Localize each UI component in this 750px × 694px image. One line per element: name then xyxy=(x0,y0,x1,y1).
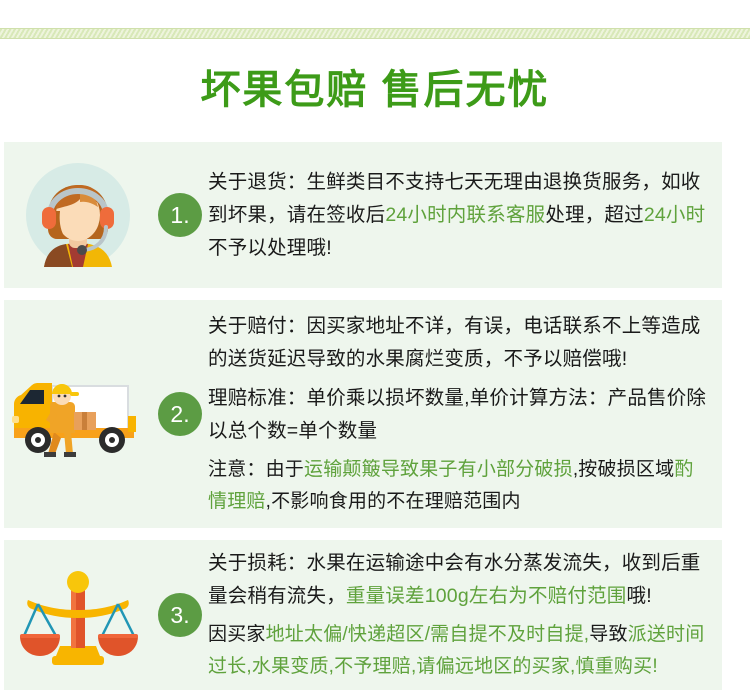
icon-cell-2 xyxy=(4,366,152,462)
run-text-highlight: 重量误差100g左右为不赔付范围 xyxy=(346,585,627,607)
run-text: 不予以处理哦! xyxy=(208,237,332,259)
headset-operator-icon xyxy=(20,157,136,273)
badge-cell-2: 2. xyxy=(152,392,208,436)
delivery-truck-icon xyxy=(8,366,148,462)
icon-cell-1 xyxy=(4,157,152,273)
section-panel-compensation: 2. 关于赔付：因买家地址不详，有误，电话联系不上等造成的送货延迟导致的水果腐烂… xyxy=(4,300,722,528)
top-striped-divider xyxy=(0,28,750,39)
run-text-highlight: 24小时 xyxy=(644,204,706,226)
run-text-highlight: 运输颠簸导致果子有小部分破损 xyxy=(304,459,573,480)
step-number-badge: 3. xyxy=(158,593,202,637)
step-number-badge: 2. xyxy=(158,392,202,436)
run-text: ,按破损区域 xyxy=(573,459,674,480)
run-text: ,不影响食用的不在理赔范围内 xyxy=(266,491,521,512)
step-number-badge: 1. xyxy=(158,193,202,237)
run-text: 处理，超过 xyxy=(545,204,644,226)
badge-cell-3: 3. xyxy=(152,593,208,637)
badge-cell-1: 1. xyxy=(152,193,208,237)
run-text: 哦! xyxy=(627,585,652,607)
run-text-highlight: 24小时内联系客服 xyxy=(385,204,545,226)
balance-scale-icon xyxy=(16,560,140,670)
run-text-highlight: 地址太偏/快递超区/需自提不及时自提, xyxy=(266,624,590,645)
section-2-paragraph-standard: 理赔标准：单价乘以损坏数量,单价计算方法：产品售价除以总个数=单个数量 xyxy=(208,382,708,448)
run-text: 导致 xyxy=(589,624,627,645)
guarantee-infographic: 坏果包赔 售后无忧 xyxy=(0,0,750,694)
section-1-paragraph: 关于退货：生鲜类目不支持七天无理由退换货服务，如收到坏果，请在签收后24小时内联… xyxy=(208,166,708,265)
section-text-weight-loss: 关于损耗：水果在运输途中会有水分蒸发流失，收到后重量会稍有流失，重量误差100g… xyxy=(208,547,722,683)
section-2-paragraph-note: 注意：由于运输颠簸导致果子有小部分破损,按破损区域酌情理赔,不影响食用的不在理赔… xyxy=(208,454,708,518)
run-text: 注意：由于 xyxy=(208,459,304,480)
run-text: 因买家 xyxy=(208,624,266,645)
icon-cell-3 xyxy=(4,560,152,670)
section-text-returns: 关于退货：生鲜类目不支持七天无理由退换货服务，如收到坏果，请在签收后24小时内联… xyxy=(208,166,722,265)
run-text: 关于赔付：因买家地址不详，有误，电话联系不上等造成的送货延迟导致的水果腐烂变质，… xyxy=(208,315,701,370)
section-panel-returns: 1. 关于退货：生鲜类目不支持七天无理由退换货服务，如收到坏果，请在签收后24小… xyxy=(4,142,722,288)
section-3-paragraph-shrinkage: 关于损耗：水果在运输途中会有水分蒸发流失，收到后重量会稍有流失，重量误差100g… xyxy=(208,547,708,613)
section-2-paragraph-liability: 关于赔付：因买家地址不详，有误，电话联系不上等造成的送货延迟导致的水果腐烂变质，… xyxy=(208,310,708,376)
page-title: 坏果包赔 售后无忧 xyxy=(0,62,750,118)
run-text: 理赔标准：单价乘以损坏数量,单价计算方法：产品售价除以总个数=单个数量 xyxy=(208,387,706,442)
section-3-paragraph-remote: 因买家地址太偏/快递超区/需自提不及时自提,导致派送时间过长,水果变质,不予理赔… xyxy=(208,619,708,683)
section-text-compensation: 关于赔付：因买家地址不详，有误，电话联系不上等造成的送货延迟导致的水果腐烂变质，… xyxy=(208,310,722,518)
section-panel-weight-loss: 3. 关于损耗：水果在运输途中会有水分蒸发流失，收到后重量会稍有流失，重量误差1… xyxy=(4,540,722,690)
